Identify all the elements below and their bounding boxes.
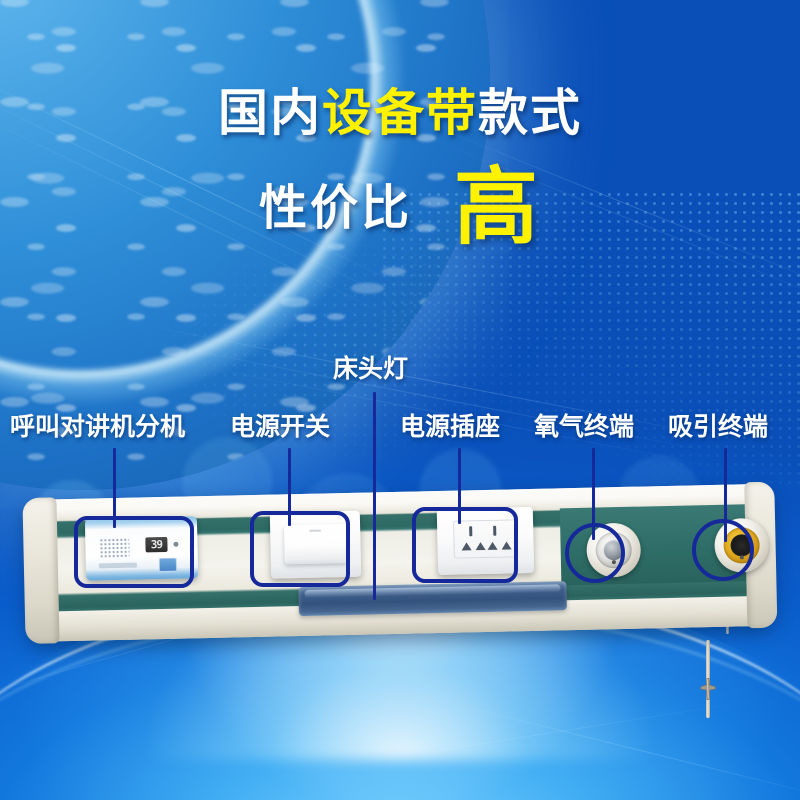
- headline-seg-value-ratio: 性价比: [259, 182, 412, 235]
- leader-line-bed-lamp: [373, 392, 376, 600]
- product-banner: 国内设备带款式 性价比高 呼叫对讲机分机 电源开关 床头灯 电源插座 氧气终端 …: [0, 0, 800, 800]
- headline-accent-high: 高: [454, 160, 541, 254]
- callout-label-bed-lamp: 床头灯: [333, 357, 408, 382]
- callout-label-power-switch: 电源开关: [230, 415, 330, 440]
- callout-label-power-socket: 电源插座: [400, 415, 500, 440]
- leader-line-oxygen-terminal: [592, 448, 595, 540]
- headline-line-2: 性价比高: [0, 165, 800, 249]
- leader-line-power-socket: [458, 448, 461, 524]
- headline-seg-equipment-belt: 设备带: [322, 85, 478, 141]
- callout-label-intercom: 呼叫对讲机分机: [10, 415, 185, 440]
- leader-line-intercom: [113, 448, 116, 528]
- callout-label-oxygen-terminal: 氧气终端: [534, 415, 634, 440]
- headline-line-1: 国内设备带款式: [0, 88, 800, 138]
- callout-label-suction-terminal: 吸引终端: [668, 415, 768, 440]
- leader-line-suction-terminal: [724, 448, 727, 542]
- leader-line-power-switch: [288, 448, 291, 526]
- headline-seg-domestic: 国内: [218, 85, 322, 141]
- headline-seg-style: 款式: [478, 85, 582, 141]
